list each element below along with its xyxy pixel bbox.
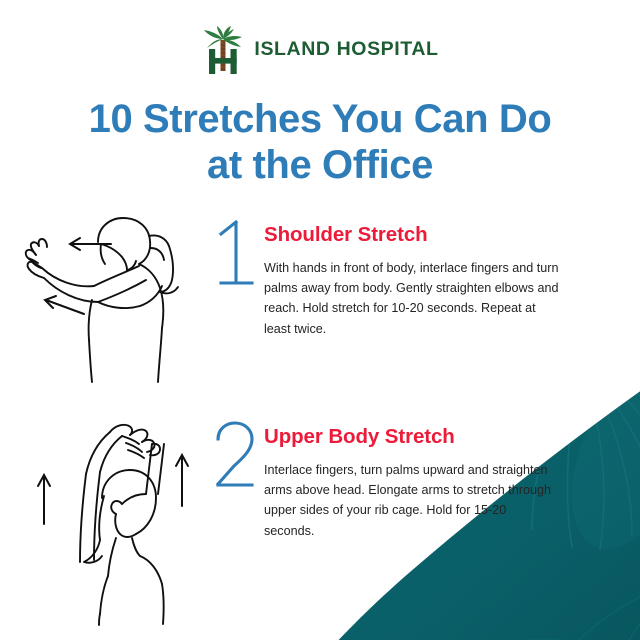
brand-logo: ISLAND HOSPITAL [0,26,640,74]
page-title: 10 Stretches You Can Do at the Office [0,96,640,189]
stretch-2-number-cell [212,398,264,492]
numeral-1-icon [212,218,258,290]
stretch-item-1: Shoulder Stretch With hands in front of … [0,196,640,386]
brand-name: ISLAND HOSPITAL [254,40,438,60]
stretch-1-number-cell [212,196,264,290]
direction-arrow-up-left [38,475,50,524]
stretch-2-text-cell: Upper Body Stretch Interlace fingers, tu… [264,398,640,541]
direction-arrow-up-right [176,455,188,506]
page-title-line-2: at the Office [207,143,433,187]
numeral-2-icon [212,420,258,492]
infographic-page: ISLAND HOSPITAL 10 Stretches You Can Do … [0,0,640,640]
stretch-2-description: Interlace fingers, turn palms upward and… [264,460,552,542]
stretch-2-title: Upper Body Stretch [264,426,596,449]
woman-arms-extended-forward-illustration [6,196,206,386]
direction-arrow-left-upper [70,238,111,250]
stretch-item-2: Upper Body Stretch Interlace fingers, tu… [0,398,640,626]
stretch-1-title: Shoulder Stretch [264,224,596,247]
stretch-1-text-cell: Shoulder Stretch With hands in front of … [264,196,640,339]
page-title-line-1: 10 Stretches You Can Do [89,97,552,141]
palm-tree-h-monogram-icon [201,26,245,74]
stretch-1-illustration-cell [0,196,212,386]
stretch-1-description: With hands in front of body, interlace f… [264,258,564,340]
stretch-2-illustration-cell [0,398,212,626]
woman-arms-raised-overhead-illustration [6,398,206,626]
